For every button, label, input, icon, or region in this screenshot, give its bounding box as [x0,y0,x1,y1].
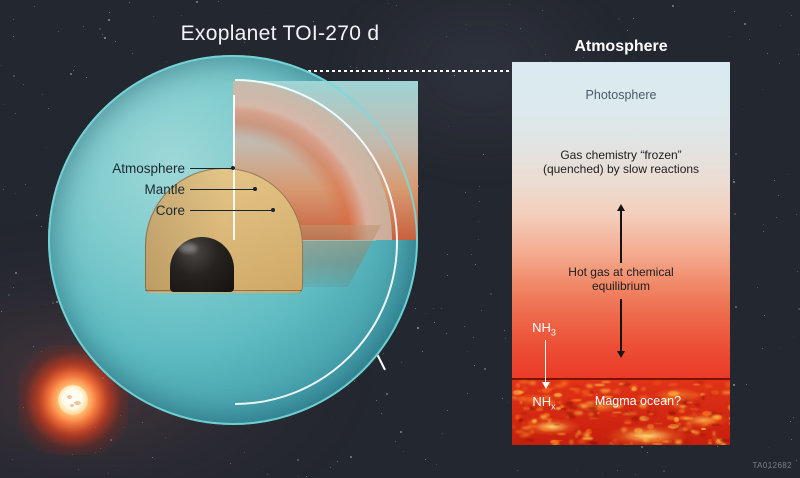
nhx-subscript: x [551,402,556,412]
leader-line-core [190,210,272,211]
label-nh3: NH3 [512,320,576,338]
arrow-shaft-up [620,211,621,263]
arrow-head-up [617,204,625,211]
label-gas-chemistry-frozen: Gas chemistry “frozen” (quenched) by slo… [512,148,730,176]
leader-dot-mantle [253,187,257,191]
panel-title: Atmosphere [512,38,730,56]
label-core: Core [60,203,185,218]
page-title: Exoplanet TOI-270 d [120,22,440,46]
arrow-shaft-down [620,299,621,351]
hotgas-line-2: equilibrium [592,279,650,293]
atmosphere-panel: Photosphere Gas chemistry “frozen” (quen… [512,62,730,445]
magma-ocean-region [512,380,730,445]
frozen-line-2: (quenched) by slow reactions [543,162,699,176]
nh3-subscript: 3 [551,328,556,338]
leader-dot-atmosphere [231,166,235,170]
leader-dot-core [271,208,275,212]
nhx-formula: NH [532,394,551,409]
frozen-line-1: Gas chemistry “frozen” [560,148,681,162]
nh3-transport-arrow-head [542,382,550,389]
arrow-head-down [617,351,625,358]
nh3-formula: NH [532,320,551,335]
planet-edge-ring [48,55,418,425]
label-magma-ocean: Magma ocean? [568,394,708,408]
label-atmosphere: Atmosphere [60,161,185,176]
label-hot-gas-equilibrium: Hot gas at chemical equilibrium [512,265,730,293]
hotgas-line-1: Hot gas at chemical [568,265,673,279]
label-mantle: Mantle [60,182,185,197]
leader-line-mantle [190,189,254,190]
label-nhx: NHx [512,394,576,412]
label-photosphere: Photosphere [512,88,730,102]
planet-cutaway-diagram [48,55,418,425]
leader-line-atmosphere [190,168,232,169]
nh3-transport-arrow-shaft [545,340,546,384]
credit-code: TA012682 [752,461,792,470]
figure-canvas: Exoplanet TOI-270 d Atmosphere Atmospher… [0,0,800,478]
